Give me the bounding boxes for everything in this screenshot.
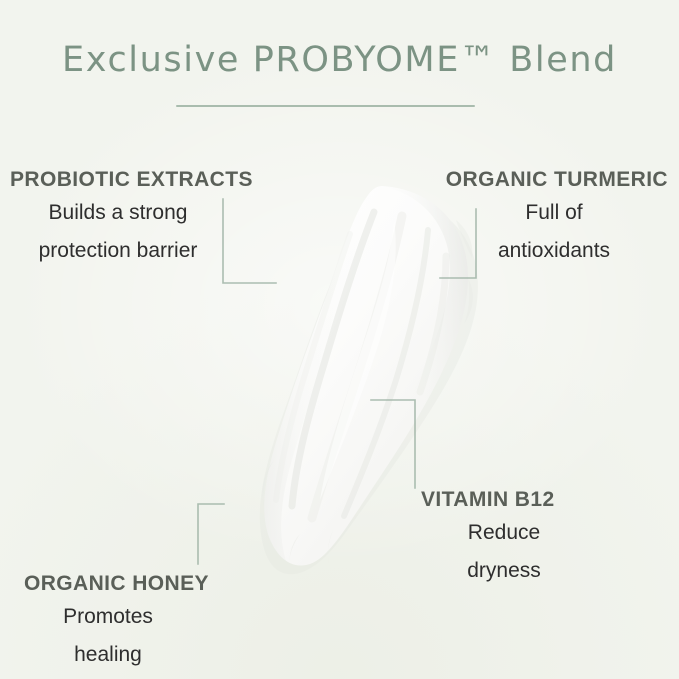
- callout-description-line-1: Builds a strong: [0, 192, 258, 230]
- callout-heading: ORGANIC TURMERIC: [407, 168, 679, 192]
- callout-heading: PROBIOTIC EXTRACTS: [0, 168, 258, 192]
- title-divider: [176, 105, 475, 107]
- callout-description-line-2: healing: [0, 634, 248, 672]
- callout-heading: VITAMIN B12: [418, 488, 668, 512]
- callout-organic-honey: ORGANIC HONEY Promotes healing: [0, 572, 248, 672]
- callout-description-line-2: dryness: [418, 550, 668, 588]
- page-title: Exclusive PROBYOME™ Blend: [0, 40, 679, 80]
- infographic-canvas: Exclusive PROBYOME™ Blend: [0, 0, 679, 679]
- callout-description-line-1: Reduce: [418, 512, 668, 550]
- callout-organic-turmeric: ORGANIC TURMERIC Full of antioxidants: [407, 168, 679, 268]
- callout-description-line-1: Promotes: [0, 596, 248, 634]
- callout-description-line-1: Full of: [407, 192, 679, 230]
- callout-description-line-2: protection barrier: [0, 230, 258, 268]
- callout-probiotic-extracts: PROBIOTIC EXTRACTS Builds a strong prote…: [0, 168, 258, 268]
- callout-description-line-2: antioxidants: [407, 230, 679, 268]
- callout-heading: ORGANIC HONEY: [0, 572, 248, 596]
- connector-organic-honey: [196, 502, 230, 568]
- connector-vitamin-b12: [370, 398, 422, 492]
- callout-vitamin-b12: VITAMIN B12 Reduce dryness: [418, 488, 668, 588]
